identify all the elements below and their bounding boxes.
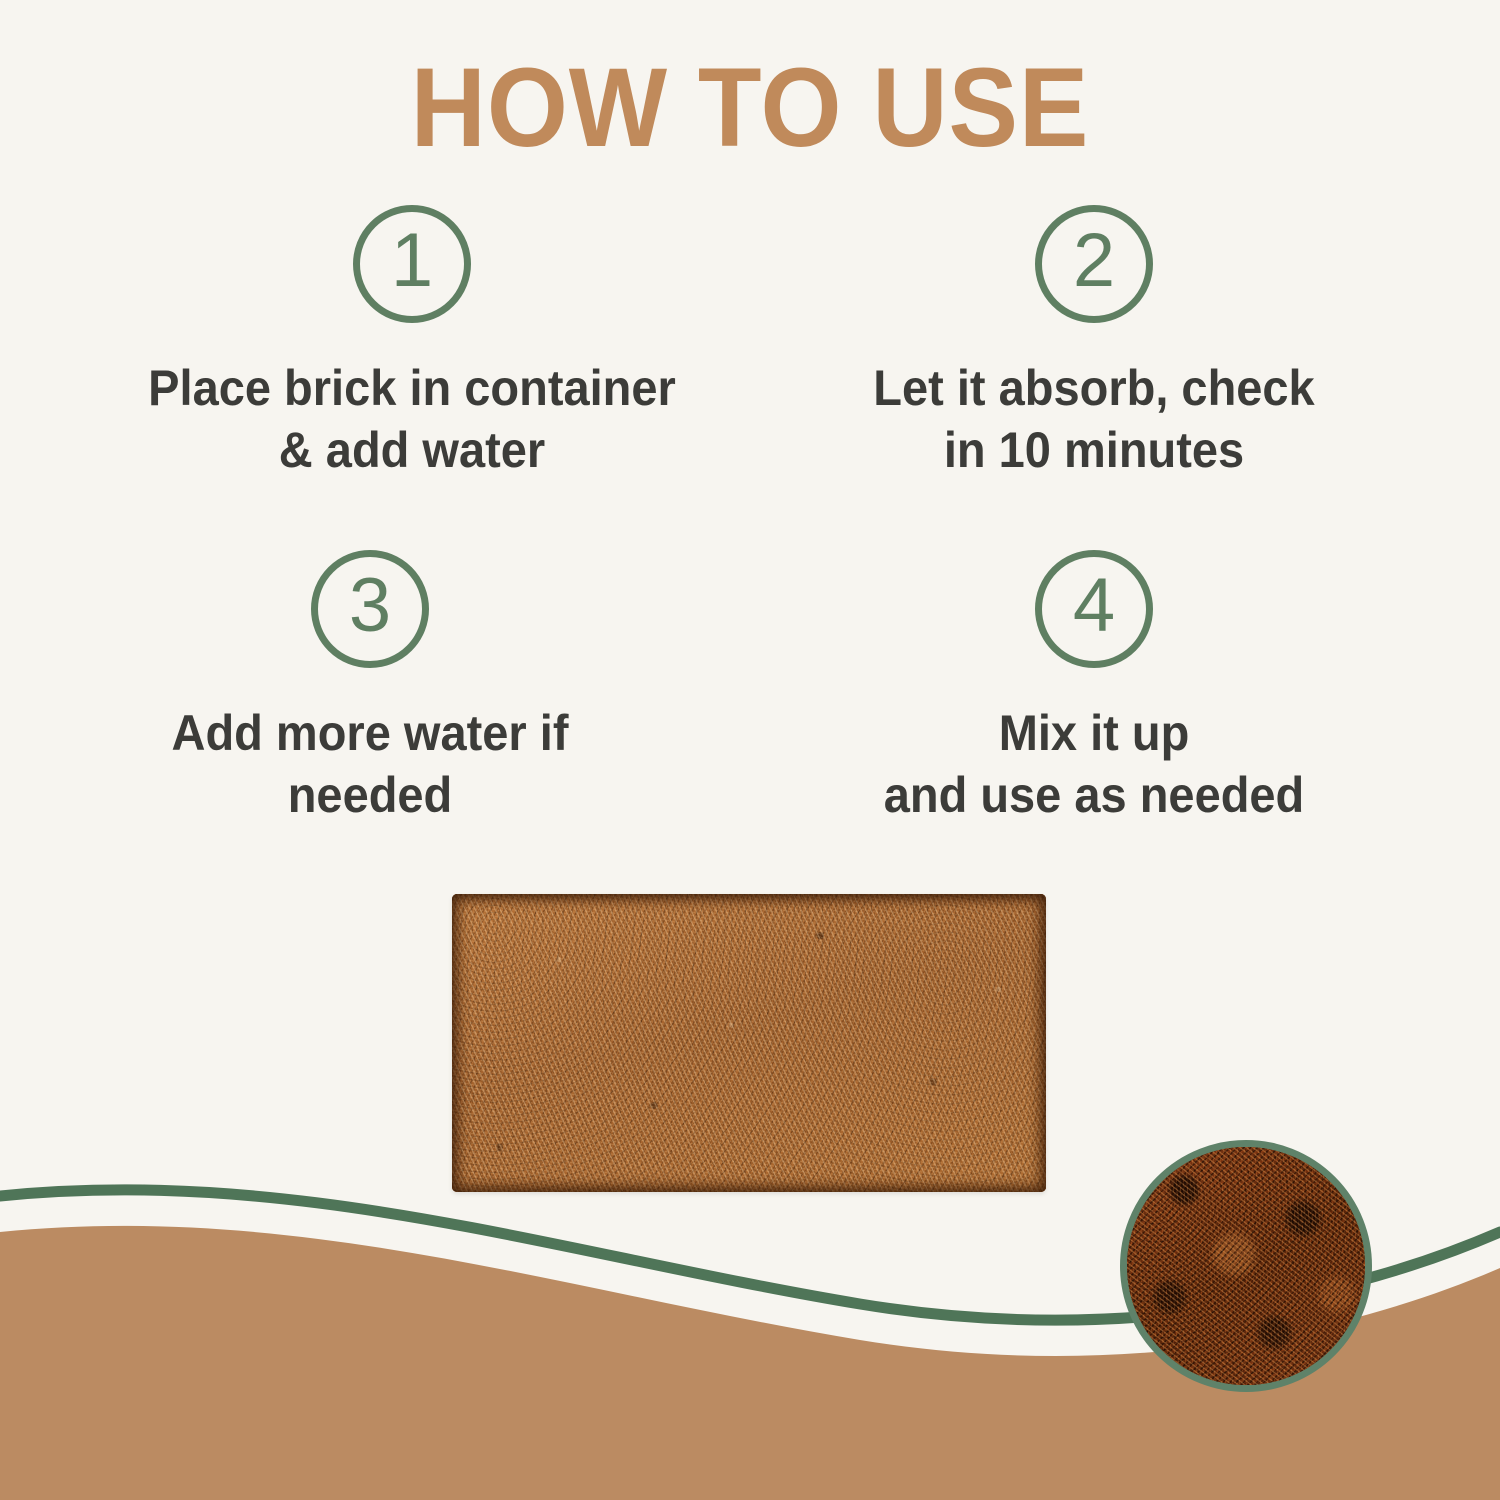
- step-number-badge-3: 3: [311, 550, 429, 668]
- loose-coir-circle-image: [1120, 1140, 1372, 1392]
- step-number-3: 3: [349, 568, 391, 644]
- step-number-badge-1: 1: [353, 205, 471, 323]
- how-to-use-infographic: HOW TO USE 1 Place brick in container & …: [0, 0, 1500, 1500]
- step-text-2: Let it absorb, check in 10 minutes: [765, 357, 1423, 481]
- step-number-badge-4: 4: [1035, 550, 1153, 668]
- step-2: 2 Let it absorb, check in 10 minutes: [744, 205, 1444, 481]
- step-number-badge-2: 2: [1035, 205, 1153, 323]
- coir-brick-image: [452, 894, 1046, 1192]
- coir-brick-edge-shading: [452, 894, 1046, 1192]
- step-text-4: Mix it up and use as needed: [765, 702, 1423, 826]
- step-4: 4 Mix it up and use as needed: [744, 550, 1444, 826]
- step-3: 3 Add more water if needed: [20, 550, 720, 826]
- step-number-4: 4: [1073, 568, 1115, 644]
- step-text-1: Place brick in container & add water: [83, 357, 741, 481]
- step-1: 1 Place brick in container & add water: [62, 205, 762, 481]
- step-number-1: 1: [391, 223, 433, 299]
- step-text-3: Add more water if needed: [41, 702, 699, 826]
- steps-grid: 1 Place brick in container & add water 2…: [0, 205, 1500, 865]
- page-title: HOW TO USE: [53, 52, 1448, 164]
- loose-coir-grain-texture: [1127, 1147, 1365, 1385]
- step-number-2: 2: [1073, 223, 1115, 299]
